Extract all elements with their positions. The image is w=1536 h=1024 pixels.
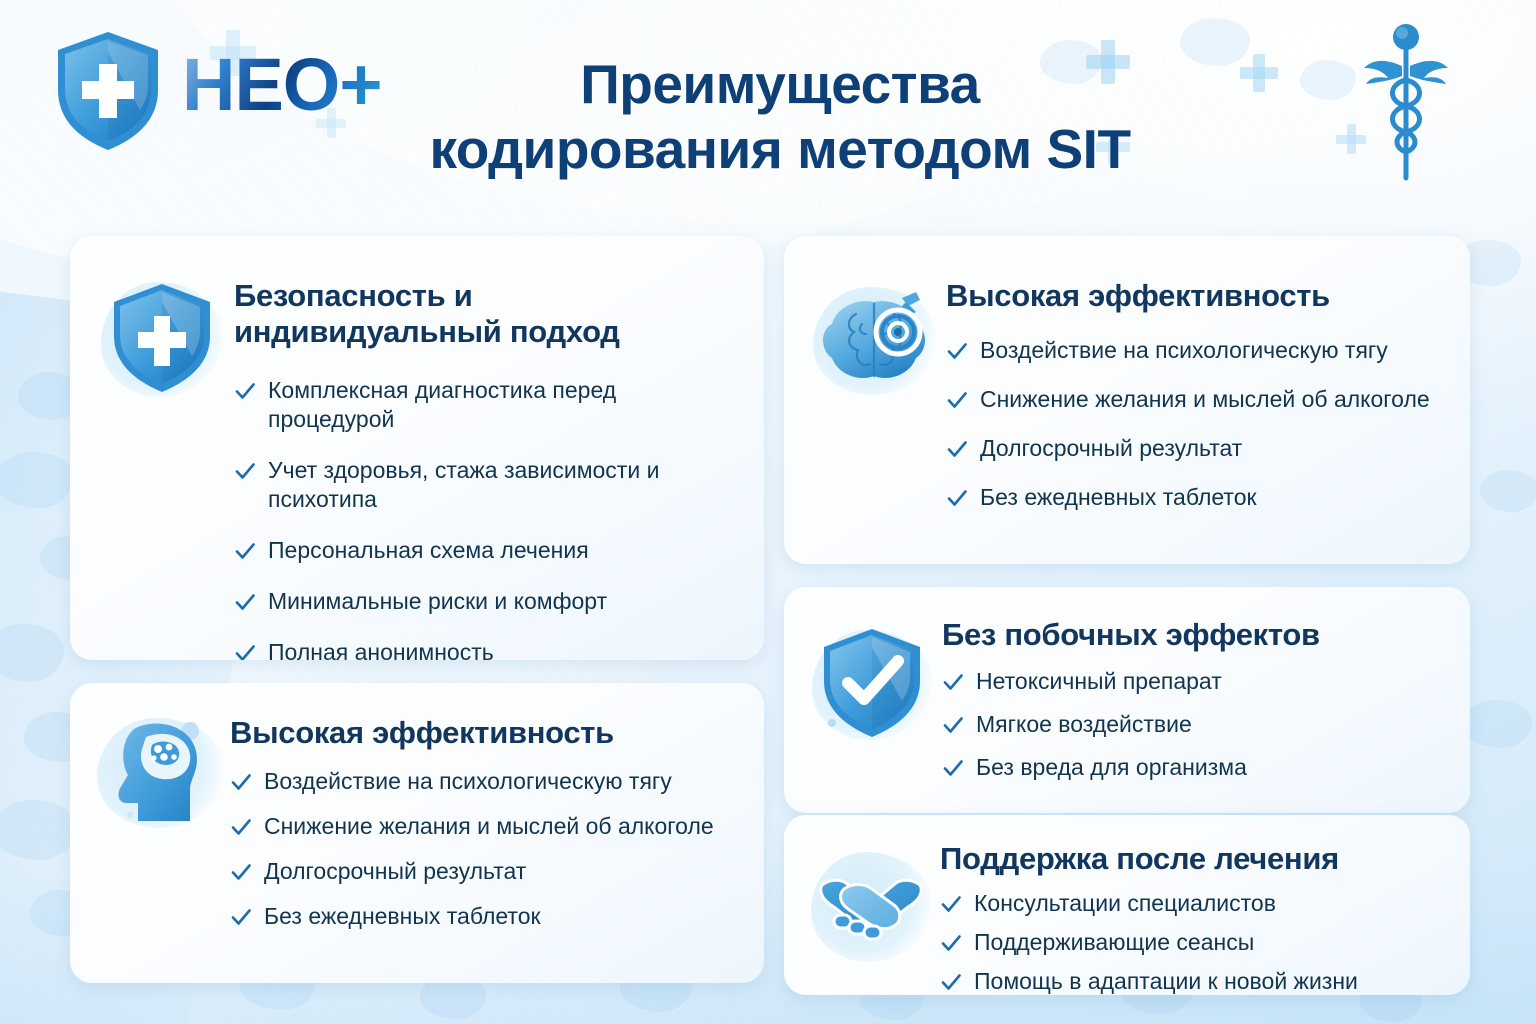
list-item: Минимальные риски и комфорт <box>234 587 734 616</box>
card-title: Без побочных эффектов <box>942 617 1444 653</box>
list-item: Комплексная диагностика перед процедурой <box>234 376 734 434</box>
check-icon <box>940 932 962 954</box>
benefit-list: Комплексная диагностика перед процедурой… <box>234 376 734 660</box>
benefit-list: Консультации специалистов Поддерживающие… <box>940 889 1448 995</box>
benefit-card-side-effects: Без побочных эффектов Нетоксичный препар… <box>784 587 1470 813</box>
background-cell <box>1462 700 1532 748</box>
head-brain-icon <box>94 711 228 833</box>
check-icon <box>940 893 962 915</box>
check-icon <box>234 642 256 660</box>
check-icon <box>234 460 256 482</box>
list-item-label: Минимальные риски и комфорт <box>268 587 607 616</box>
check-icon <box>942 671 964 693</box>
card-title: Высокая эффективность <box>230 715 738 751</box>
list-item-label: Без ежедневных таблеток <box>264 902 541 931</box>
card-body: Поддержка после лечения Консультации спе… <box>940 833 1448 995</box>
background-cell <box>0 624 64 682</box>
list-item-label: Консультации специалистов <box>974 889 1276 918</box>
list-item-label: Персональная схема лечения <box>268 536 589 565</box>
infographic-poster: НЕО+ Преимущества кодирования методом SI… <box>0 0 1536 1024</box>
background-cell <box>1480 470 1536 512</box>
list-item-label: Снижение желания и мыслей об алкоголе <box>980 385 1430 414</box>
check-icon <box>234 380 256 402</box>
list-item-label: Без ежедневных таблеток <box>980 483 1257 512</box>
poster-header: НЕО+ Преимущества кодирования методом SI… <box>0 0 1536 210</box>
shield-cross-icon <box>52 28 164 154</box>
list-item-label: Поддерживающие сеансы <box>974 928 1254 957</box>
benefit-list: Воздействие на психологическую тягу Сниж… <box>946 336 1444 512</box>
list-item-label: Воздействие на психологическую тягу <box>264 767 672 796</box>
benefit-card-safety: Безопасность и индивидуальный подход Ком… <box>70 236 764 660</box>
card-body: Без побочных эффектов Нетоксичный препар… <box>942 607 1444 796</box>
list-item-label: Снижение желания и мыслей об алкоголе <box>264 812 714 841</box>
list-item-label: Воздействие на психологическую тягу <box>980 336 1388 365</box>
check-icon <box>942 757 964 779</box>
shield-cross-icon <box>98 274 226 402</box>
list-item: Снижение желания и мыслей об алкоголе <box>946 385 1444 414</box>
caduceus-icon <box>1358 18 1454 188</box>
handshake-icon <box>808 845 934 967</box>
background-cell <box>0 800 76 860</box>
list-item: Нетоксичный препарат <box>942 667 1444 696</box>
check-icon <box>940 971 962 993</box>
list-item: Долгосрочный результат <box>946 434 1444 463</box>
list-item: Без ежедневных таблеток <box>946 483 1444 512</box>
check-icon <box>234 540 256 562</box>
list-item: Мягкое воздействие <box>942 710 1444 739</box>
list-item: Без ежедневных таблеток <box>230 902 738 931</box>
card-body: Высокая эффективность Воздействие на пси… <box>946 264 1444 532</box>
check-icon <box>230 771 252 793</box>
benefit-card-support: Поддержка после лечения Консультации спе… <box>784 815 1470 995</box>
benefit-list: Нетоксичный препарат Мягкое воздействие … <box>942 667 1444 782</box>
list-item-label: Долгосрочный результат <box>264 857 526 886</box>
page-title-line-1: Преимущества <box>330 52 1230 117</box>
check-icon <box>230 861 252 883</box>
card-title: Поддержка после лечения <box>940 841 1448 877</box>
list-item: Без вреда для организма <box>942 753 1444 782</box>
list-item: Воздействие на психологическую тягу <box>230 767 738 796</box>
card-title: Высокая эффективность <box>946 278 1444 314</box>
list-item-label: Нетоксичный препарат <box>976 667 1222 696</box>
card-body: Высокая эффективность Воздействие на пси… <box>230 705 738 947</box>
page-title: Преимущества кодирования методом SIT <box>330 52 1230 182</box>
check-icon <box>946 389 968 411</box>
list-item: Персональная схема лечения <box>234 536 734 565</box>
list-item: Учет здоровья, стажа зависимости и психо… <box>234 456 734 514</box>
check-icon <box>230 906 252 928</box>
brain-target-icon <box>810 280 940 400</box>
list-item: Консультации специалистов <box>940 889 1448 918</box>
list-item-label: Полная анонимность <box>268 638 494 660</box>
page-title-line-2: кодирования методом SIT <box>330 117 1230 182</box>
list-item: Долгосрочный результат <box>230 857 738 886</box>
card-body: Безопасность и индивидуальный подход Ком… <box>234 262 734 660</box>
list-item-label: Помощь в адаптации к новой жизни <box>974 967 1358 995</box>
list-item: Снижение желания и мыслей об алкоголе <box>230 812 738 841</box>
list-item-label: Без вреда для организма <box>976 753 1247 782</box>
card-title: Безопасность и индивидуальный подход <box>234 278 734 350</box>
list-item-label: Учет здоровья, стажа зависимости и психо… <box>268 456 734 514</box>
check-icon <box>234 591 256 613</box>
list-item-label: Долгосрочный результат <box>980 434 1242 463</box>
background-cell <box>0 452 74 508</box>
list-item: Воздействие на психологическую тягу <box>946 336 1444 365</box>
benefit-card-efficiency-bottom: Высокая эффективность Воздействие на пси… <box>70 683 764 983</box>
check-icon <box>946 340 968 362</box>
list-item-label: Мягкое воздействие <box>976 710 1192 739</box>
list-item: Поддерживающие сеансы <box>940 928 1448 957</box>
list-item-label: Комплексная диагностика перед процедурой <box>268 376 734 434</box>
check-icon <box>946 438 968 460</box>
list-item: Помощь в адаптации к новой жизни <box>940 967 1448 995</box>
check-icon <box>942 714 964 736</box>
check-icon <box>946 487 968 509</box>
benefit-list: Воздействие на психологическую тягу Сниж… <box>230 767 738 931</box>
benefit-card-efficiency-top: Высокая эффективность Воздействие на пси… <box>784 236 1470 564</box>
check-icon <box>230 816 252 838</box>
list-item: Полная анонимность <box>234 638 734 660</box>
shield-check-icon <box>810 623 934 745</box>
